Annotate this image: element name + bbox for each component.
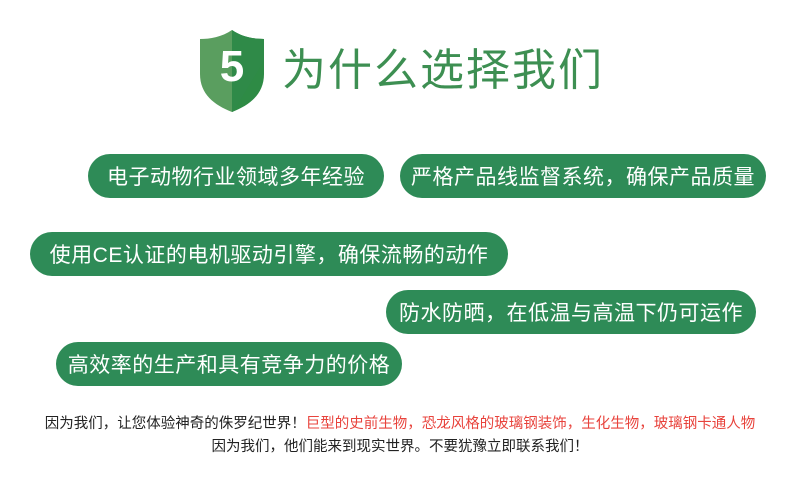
feature-pill-weatherproof: 防水防晒，在低温与高温下仍可运作 xyxy=(386,290,756,334)
page-title: 为什么选择我们 xyxy=(282,49,604,93)
footer-line-1-accent: 巨型的史前生物，恐龙风格的玻璃钢装饰，生化生物，玻璃钢卡通人物 xyxy=(306,416,756,432)
promo-page: 5 为什么选择我们 电子动物行业领域多年经验 严格产品线监督系统，确保产品质量 … xyxy=(0,0,800,485)
footer-line-2: 因为我们，他们能来到现实世界。不要犹豫立即联系我们！ xyxy=(0,436,800,459)
footer-line-1-prefix: 因为我们，让您体验神奇的侏罗纪世界！ xyxy=(45,416,306,432)
feature-pill-experience: 电子动物行业领域多年经验 xyxy=(88,154,384,198)
badge-number: 5 xyxy=(196,28,268,106)
feature-pill-ce-motor: 使用CE认证的电机驱动引擎，确保流畅的动作 xyxy=(30,232,508,276)
page-header: 5 为什么选择我们 xyxy=(0,26,800,116)
footer-line-1: 因为我们，让您体验神奇的侏罗纪世界！巨型的史前生物，恐龙风格的玻璃钢装饰，生化生… xyxy=(0,413,800,436)
shield-icon: 5 xyxy=(196,28,268,114)
feature-pill-price: 高效率的生产和具有竞争力的价格 xyxy=(56,342,402,386)
footer-text: 因为我们，让您体验神奇的侏罗纪世界！巨型的史前生物，恐龙风格的玻璃钢装饰，生化生… xyxy=(0,413,800,459)
feature-pill-quality-control: 严格产品线监督系统，确保产品质量 xyxy=(400,154,766,198)
